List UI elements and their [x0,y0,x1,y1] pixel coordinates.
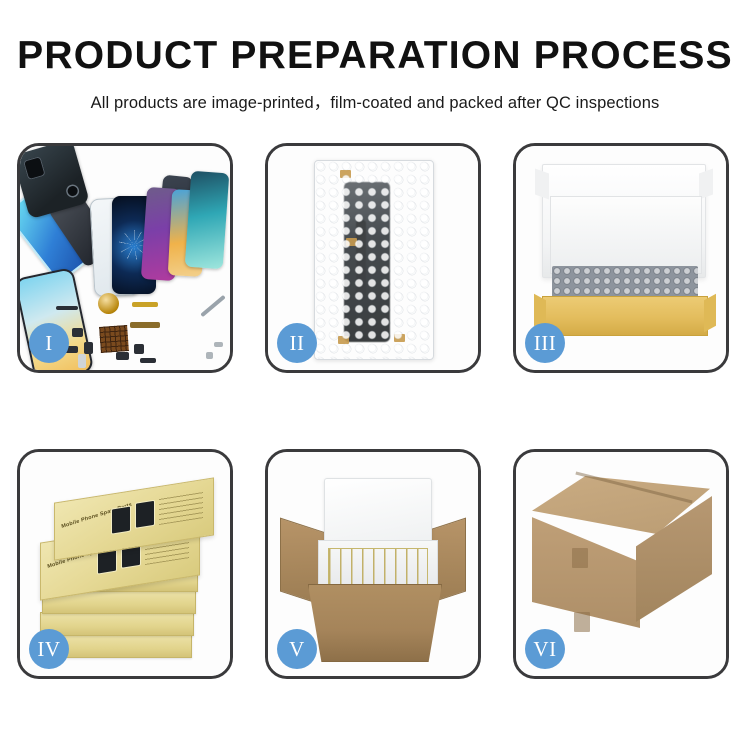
stacked-box [40,612,194,636]
page-subtitle: All products are image-printed，film-coat… [0,89,750,113]
small-part [134,344,144,354]
box-spec-lines [159,490,203,525]
small-part [140,358,156,363]
process-step-grid: I II III [17,143,733,679]
process-step-3: III [513,143,729,373]
process-step-5: V [265,449,481,679]
carton-body [308,584,442,662]
bubble-cushion-fill [552,266,698,298]
process-step-2: II [265,143,481,373]
small-part [84,342,93,354]
step-badge-6: VI [525,629,565,669]
flex-cable [132,302,158,307]
box-window [111,505,131,534]
chip-array [99,325,129,353]
process-step-4: Mobile Phone Spare Parts Mobile Phone Sp… [17,449,233,679]
tweezers-icon [200,295,226,317]
packed-yellow-boxes [328,548,428,588]
flex-cable [130,322,160,328]
phone-teal [185,171,230,269]
yellow-box-base [542,296,708,336]
small-part [72,328,83,337]
step-badge-4: IV [29,629,69,669]
process-step-6: VI [513,449,729,679]
bubble-wrap-overlay [314,160,432,358]
header: PRODUCT PREPARATION PROCESS All products… [0,0,750,113]
flex-cable [56,306,78,310]
process-step-1: I [17,143,233,373]
screw-part [214,342,223,347]
small-part [116,352,129,360]
box-window [135,500,155,529]
step-badge-3: III [525,323,565,363]
screw-part [206,352,213,359]
carton-tab [572,548,588,568]
box-foam-liner [550,196,702,274]
step-badge-2: II [277,323,317,363]
speaker-coil-icon [98,293,119,314]
page-title: PRODUCT PREPARATION PROCESS [0,36,750,77]
small-part [78,354,86,368]
step-badge-5: V [277,629,317,669]
carton-tab [574,612,590,632]
step-badge-1: I [29,323,69,363]
